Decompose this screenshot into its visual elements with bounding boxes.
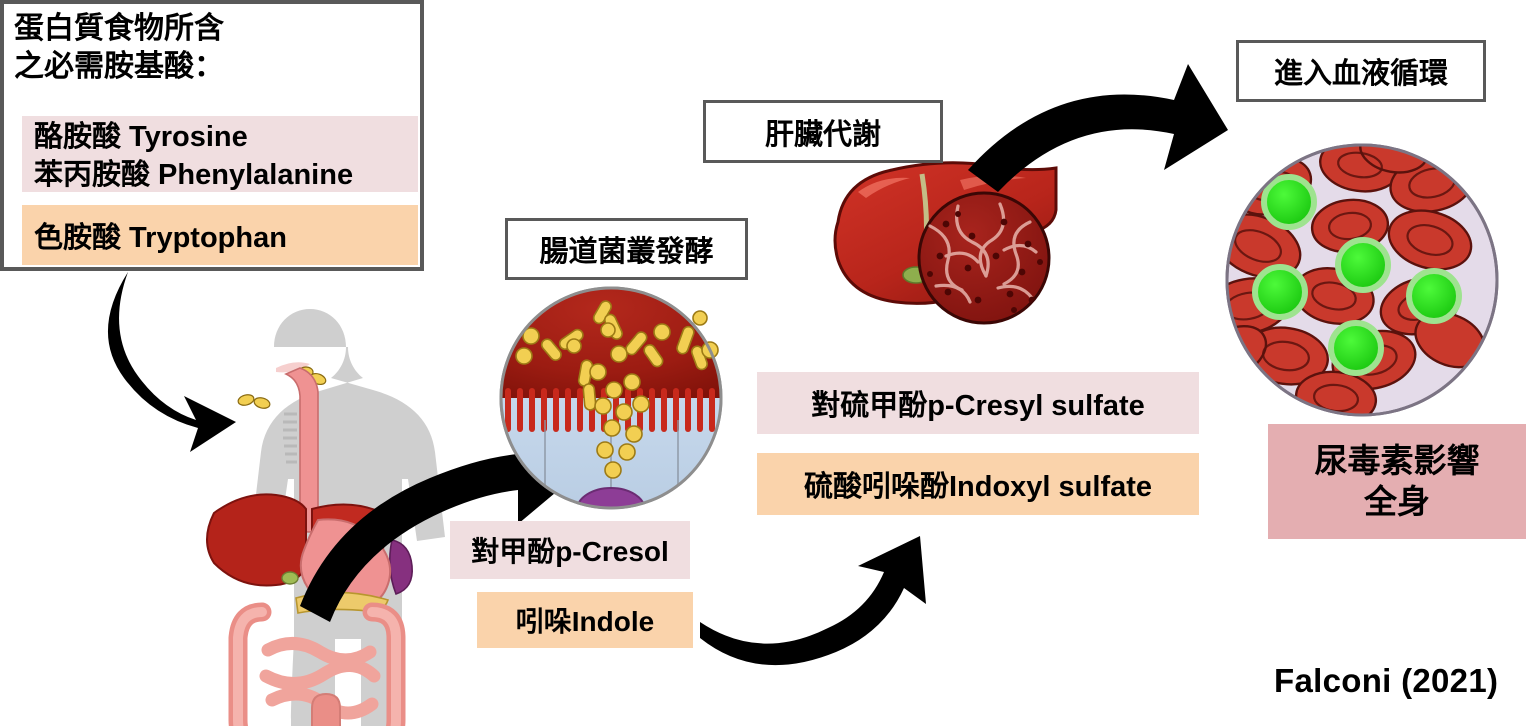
process-box-enter-circulation: 進入血液循環 <box>1236 40 1486 102</box>
metabolite-chip-indole: 吲哚Indole <box>477 592 693 648</box>
trachea <box>283 414 297 462</box>
blood-circulation-illustration <box>1193 122 1497 428</box>
liver-illustration <box>835 163 1056 323</box>
amino-acid-row-tyrosine-phenylalanine: 酪胺酸 Tyrosine苯丙胺酸 Phenylalanine <box>22 116 418 192</box>
amino-acid-card-heading: 蛋白質食物所含之必需胺基酸： <box>14 10 414 87</box>
amino-acid-source-card: 蛋白質食物所含之必需胺基酸： 酪胺酸 Tyrosine苯丙胺酸 Phenylal… <box>0 0 424 271</box>
rectum <box>312 694 340 726</box>
amino-acid-row-tryptophan: 色胺酸 Tryptophan <box>22 205 418 265</box>
uremic-effect-banner: 尿毒素影響全身 <box>1268 424 1526 539</box>
diagram-canvas: 蛋白質食物所含之必需胺基酸： 酪胺酸 Tyrosine苯丙胺酸 Phenylal… <box>0 0 1539 726</box>
spleen <box>390 540 412 594</box>
arrow-metabolites-to-liver <box>700 536 926 665</box>
metabolite-chip-p-cresol: 對甲酚p-Cresol <box>450 521 690 579</box>
arrow-liver-to-blood <box>968 64 1228 192</box>
metabolite-chip-indoxyl-sulfate: 硫酸吲哚酚Indoxyl sulfate <box>757 453 1199 515</box>
arrow-food-to-mouth <box>108 272 236 452</box>
metabolite-chip-p-cresyl-sulfate: 對硫甲酚p-Cresyl sulfate <box>757 372 1199 434</box>
process-box-gut-fermentation: 腸道菌叢發酵 <box>505 218 748 280</box>
gallbladder <box>282 572 298 584</box>
process-box-liver-metabolism: 肝臟代謝 <box>703 100 943 163</box>
citation-text: Falconi (2021) <box>1274 662 1498 700</box>
